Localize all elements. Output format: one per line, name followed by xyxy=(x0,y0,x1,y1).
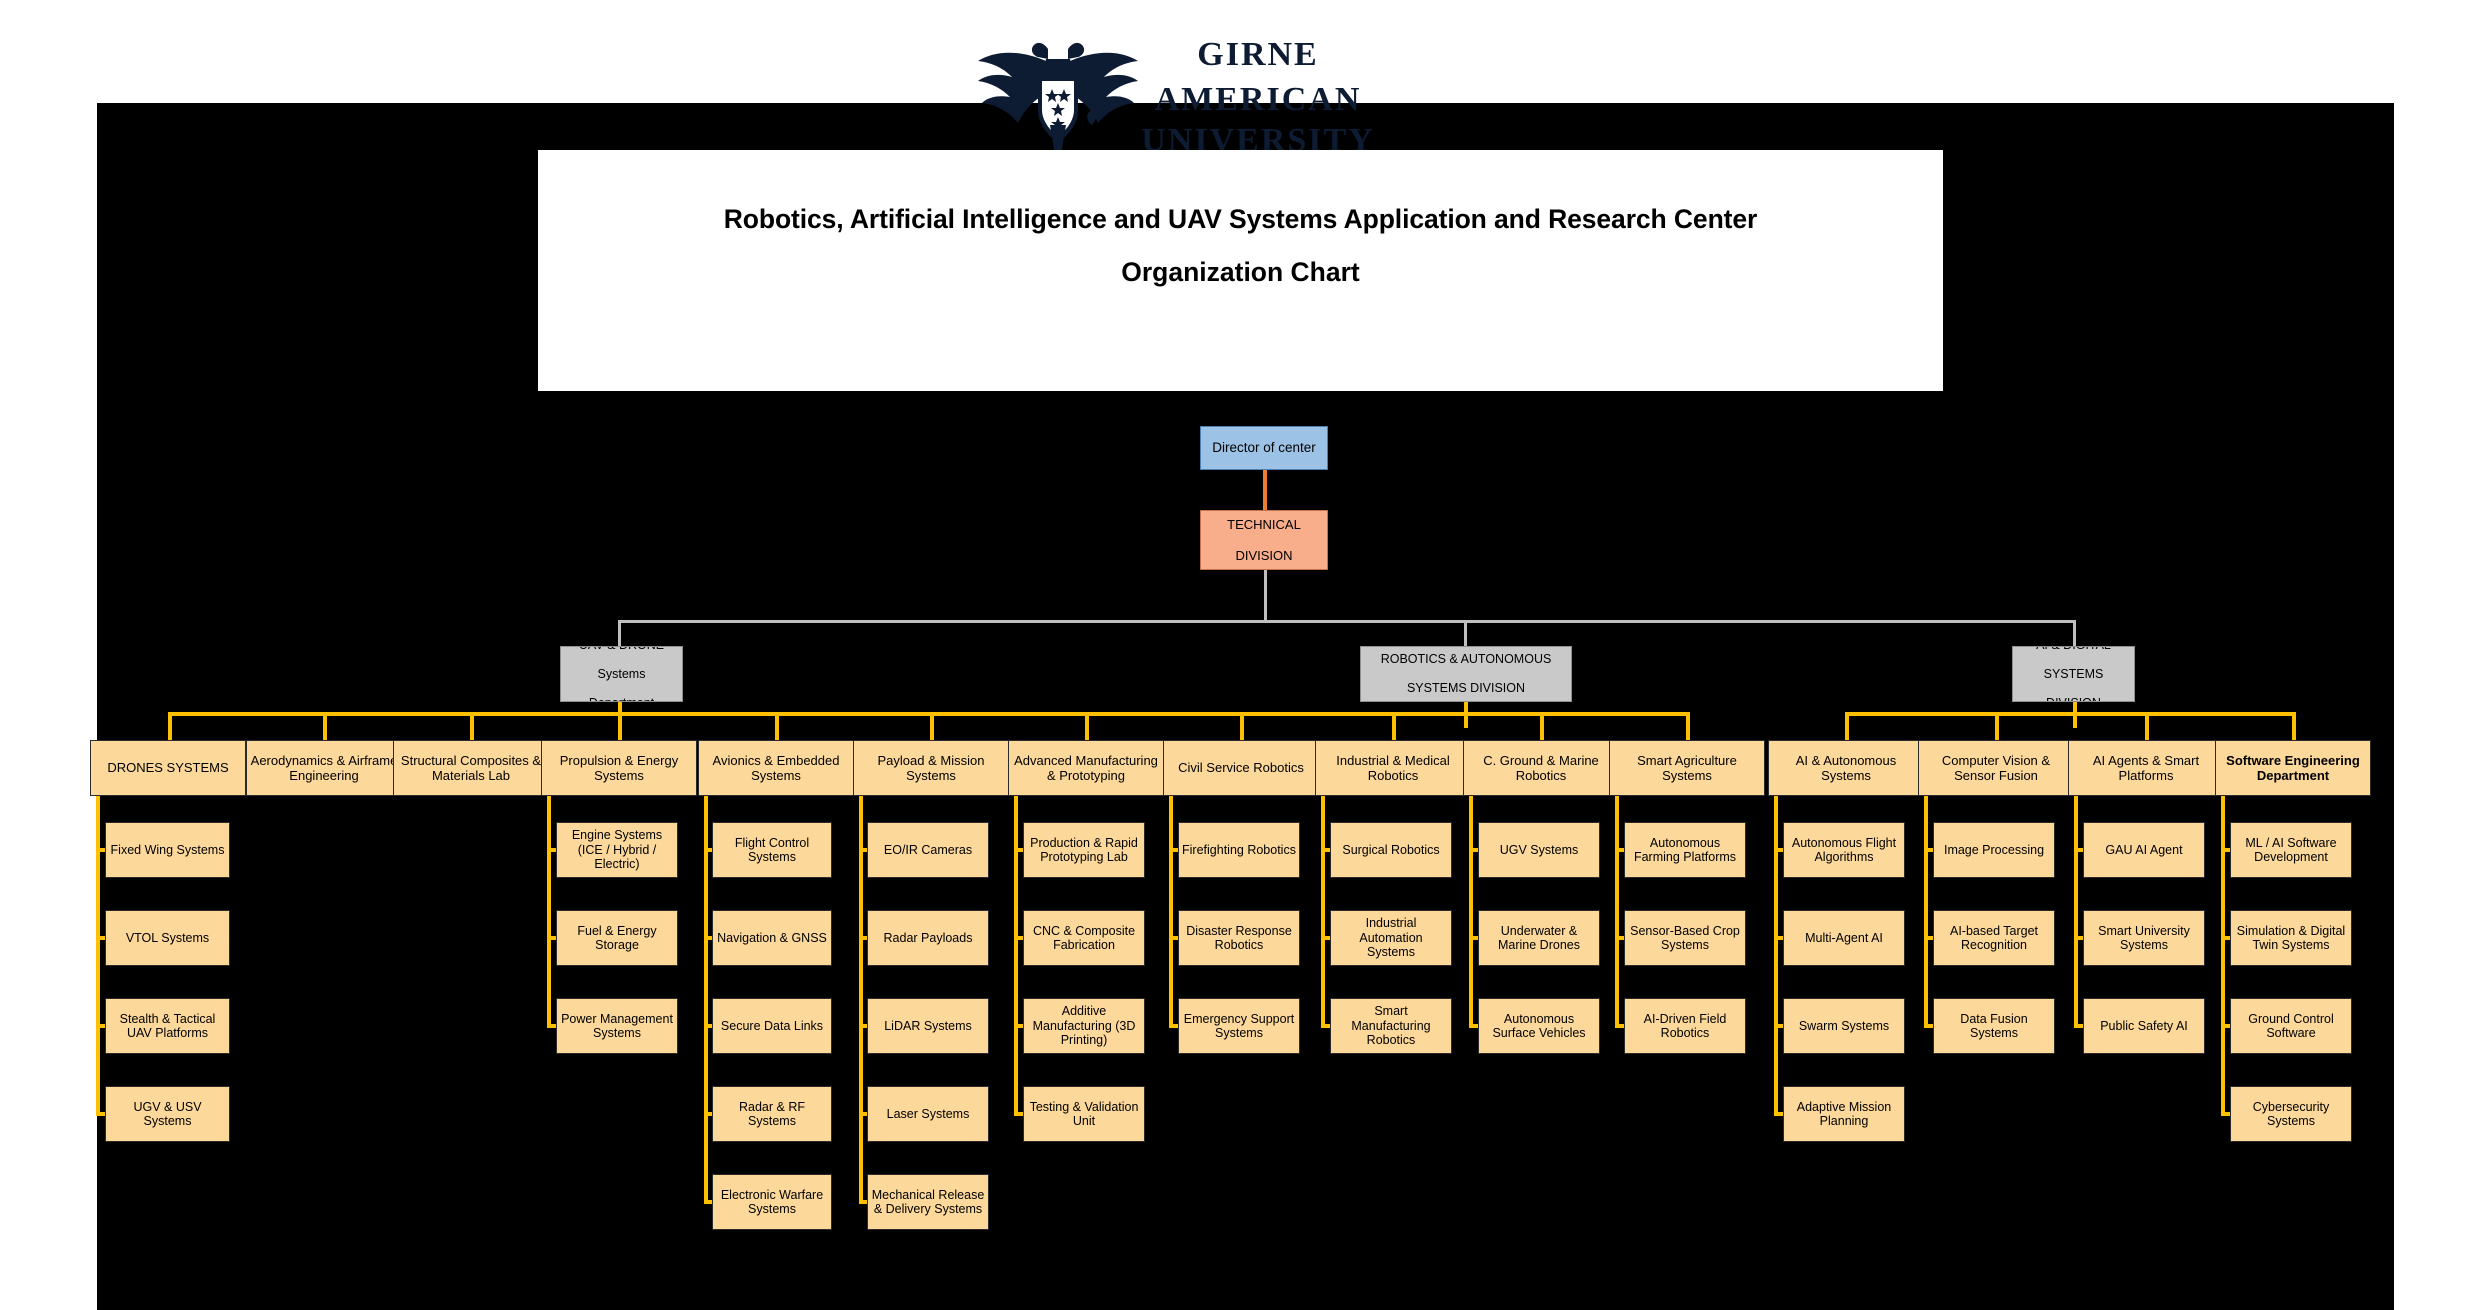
leaf-label: CNC & Composite Fabrication xyxy=(1024,924,1144,953)
leaf-advanced-mfg-4[interactable]: Testing & Validation Unit xyxy=(1023,1086,1145,1142)
leaf-avionics-2[interactable]: Navigation & GNSS xyxy=(712,910,832,966)
leaf-label: Smart Manufacturing Robotics xyxy=(1331,1004,1451,1048)
connector-ai-autonomous-stub-2 xyxy=(1774,936,1783,940)
leaf-computer-vision-2[interactable]: AI-based Target Recognition xyxy=(1933,910,2055,966)
connector-ground-marine-stub-3 xyxy=(1469,1024,1478,1028)
leaf-label: LiDAR Systems xyxy=(881,1019,975,1034)
connector-ai-agents-spine xyxy=(2074,796,2078,1026)
leaf-civil-service-2[interactable]: Disaster Response Robotics xyxy=(1178,910,1300,966)
leaf-label: VTOL Systems xyxy=(123,931,212,946)
leaf-label: EO/IR Cameras xyxy=(881,843,975,858)
connector-ai-autonomous-spine xyxy=(1774,796,1778,1114)
leaf-software-eng-2[interactable]: Simulation & Digital Twin Systems xyxy=(2230,910,2352,966)
leaf-payload-1[interactable]: EO/IR Cameras xyxy=(867,822,989,878)
connector-drop-ras xyxy=(1464,620,1467,646)
connector-industrial-medical-stub-3 xyxy=(1321,1024,1330,1028)
connector-ai-stem-1 xyxy=(1845,712,1849,740)
connector-payload-stub-4 xyxy=(859,1112,867,1116)
leaf-computer-vision-3[interactable]: Data Fusion Systems xyxy=(1933,998,2055,1054)
leaf-payload-5[interactable]: Mechanical Release & Delivery Systems xyxy=(867,1174,989,1230)
connector-computer-vision-stub-2 xyxy=(1924,936,1933,940)
leaf-ai-autonomous-4[interactable]: Adaptive Mission Planning xyxy=(1783,1086,1905,1142)
leaf-label: Data Fusion Systems xyxy=(1934,1012,2054,1041)
leaf-label: AI-Driven Field Robotics xyxy=(1625,1012,1745,1041)
leaf-software-eng-3[interactable]: Ground Control Software xyxy=(2230,998,2352,1054)
department-ai-autonomous-systems[interactable]: AI & Autonomous Systems xyxy=(1768,740,1924,796)
leaf-label: Testing & Validation Unit xyxy=(1024,1100,1144,1129)
leaf-propulsion-3[interactable]: Power Management Systems xyxy=(556,998,678,1054)
leaf-industrial-medical-1[interactable]: Surgical Robotics xyxy=(1330,822,1452,878)
leaf-label: Autonomous Flight Algorithms xyxy=(1784,836,1904,865)
title-card: Robotics, Artificial Intelligence and UA… xyxy=(538,150,1943,391)
connector-uav-stem-6 xyxy=(930,712,934,740)
connector-industrial-medical-stub-2 xyxy=(1321,936,1330,940)
connector-smart-agri-stub-3 xyxy=(1615,1024,1624,1028)
leaf-label: Adaptive Mission Planning xyxy=(1784,1100,1904,1129)
connector-division-trunk xyxy=(618,620,2076,623)
connector-technical-trunk xyxy=(1264,570,1267,622)
connector-ai-agents-stub-1 xyxy=(2074,848,2083,852)
leaf-label: Radar Payloads xyxy=(881,931,976,946)
connector-software-eng-stub-3 xyxy=(2221,1024,2230,1028)
leaf-avionics-3[interactable]: Secure Data Links xyxy=(712,998,832,1054)
connector-payload-spine xyxy=(859,796,863,1202)
connector-avionics-stub-1 xyxy=(704,848,712,852)
node-division-uav-drone[interactable]: UAV & DRONE Systems Department xyxy=(560,646,683,702)
connector-propulsion-stub-1 xyxy=(547,848,556,852)
department-drones-systems[interactable]: DRONES SYSTEMS xyxy=(90,740,246,796)
leaf-advanced-mfg-1[interactable]: Production & Rapid Prototyping Lab xyxy=(1023,822,1145,878)
leaf-label: Autonomous Farming Platforms xyxy=(1625,836,1745,865)
connector-smart-agri-stub-1 xyxy=(1615,848,1624,852)
connector-software-eng-stub-2 xyxy=(2221,936,2230,940)
leaf-smart-agri-1[interactable]: Autonomous Farming Platforms xyxy=(1624,822,1746,878)
leaf-civil-service-1[interactable]: Firefighting Robotics xyxy=(1178,822,1300,878)
leaf-label: Sensor-Based Crop Systems xyxy=(1625,924,1745,953)
leaf-ground-marine-3[interactable]: Autonomous Surface Vehicles xyxy=(1478,998,1600,1054)
connector-advanced-mfg-stub-1 xyxy=(1014,848,1023,852)
connector-ai-autonomous-stub-4 xyxy=(1774,1112,1783,1116)
connector-ras-stem-3 xyxy=(1540,712,1544,740)
connector-ground-marine-stub-1 xyxy=(1469,848,1478,852)
leaf-label: Power Management Systems xyxy=(557,1012,677,1041)
connector-civil-service-stub-2 xyxy=(1169,936,1178,940)
department-ai-agents-smart-platforms[interactable]: AI Agents & Smart Platforms xyxy=(2068,740,2224,796)
leaf-label: Disaster Response Robotics xyxy=(1179,924,1299,953)
connector-drones-systems-spine xyxy=(96,796,100,1114)
connector-ras-bar xyxy=(1240,712,1688,716)
leaf-label: AI-based Target Recognition xyxy=(1934,924,2054,953)
leaf-drones-systems-1[interactable]: Fixed Wing Systems xyxy=(105,822,230,878)
leaf-smart-agri-2[interactable]: Sensor-Based Crop Systems xyxy=(1624,910,1746,966)
page-subtitle: Organization Chart xyxy=(538,257,1943,288)
leaf-label: Secure Data Links xyxy=(718,1019,826,1034)
leaf-ground-marine-1[interactable]: UGV Systems xyxy=(1478,822,1600,878)
leaf-payload-3[interactable]: LiDAR Systems xyxy=(867,998,989,1054)
connector-director-technical xyxy=(1263,468,1267,512)
connector-industrial-medical-spine xyxy=(1321,796,1325,1026)
connector-uav-stem-8 xyxy=(1240,712,1244,740)
connector-ai-stem-4 xyxy=(2292,712,2296,740)
connector-ai-stem-3 xyxy=(2145,712,2149,740)
leaf-label: Additive Manufacturing (3D Printing) xyxy=(1024,1004,1144,1048)
department-propulsion-energy[interactable]: Propulsion & Energy Systems xyxy=(541,740,697,796)
connector-uav-bar xyxy=(168,712,1244,716)
leaf-label: Multi-Agent AI xyxy=(1802,931,1886,946)
leaf-label: Fuel & Energy Storage xyxy=(557,924,677,953)
girne-american-university-crest-icon: GIRNE AMERICAN UNIVERSITY xyxy=(958,25,1378,153)
connector-software-eng-stub-4 xyxy=(2221,1112,2230,1116)
leaf-label: Firefighting Robotics xyxy=(1179,843,1299,858)
connector-ras-stem-2 xyxy=(1392,712,1396,740)
page-title: Robotics, Artificial Intelligence and UA… xyxy=(538,204,1943,235)
leaf-label: Public Safety AI xyxy=(2097,1019,2191,1034)
leaf-payload-2[interactable]: Radar Payloads xyxy=(867,910,989,966)
connector-avionics-stub-2 xyxy=(704,936,712,940)
leaf-civil-service-3[interactable]: Emergency Support Systems xyxy=(1178,998,1300,1054)
connector-propulsion-stub-2 xyxy=(547,936,556,940)
connector-drones-systems-stub-3 xyxy=(96,1024,105,1028)
connector-civil-service-spine xyxy=(1169,796,1173,1026)
leaf-label: Radar & RF Systems xyxy=(713,1100,831,1129)
leaf-ai-agents-2[interactable]: Smart University Systems xyxy=(2083,910,2205,966)
leaf-label: UGV Systems xyxy=(1497,843,1582,858)
leaf-label: Industrial Automation Systems xyxy=(1331,916,1451,960)
connector-ai-autonomous-stub-1 xyxy=(1774,848,1783,852)
leaf-ai-agents-1[interactable]: GAU AI Agent xyxy=(2083,822,2205,878)
leaf-ai-autonomous-1[interactable]: Autonomous Flight Algorithms xyxy=(1783,822,1905,878)
connector-uav-stem-2 xyxy=(323,712,327,740)
leaf-software-eng-4[interactable]: Cybersecurity Systems xyxy=(2230,1086,2352,1142)
leaf-label: Navigation & GNSS xyxy=(714,931,830,946)
leaf-label: Production & Rapid Prototyping Lab xyxy=(1024,836,1144,865)
connector-drop-uav xyxy=(618,620,621,646)
connector-payload-stub-3 xyxy=(859,1024,867,1028)
leaf-drones-systems-3[interactable]: Stealth & Tactical UAV Platforms xyxy=(105,998,230,1054)
connector-smart-agri-stub-2 xyxy=(1615,936,1624,940)
leaf-label: Ground Control Software xyxy=(2231,1012,2351,1041)
department-advanced-manufacturing[interactable]: Advanced Manufacturing & Prototyping xyxy=(1008,740,1164,796)
department-industrial-medical-robotics[interactable]: Industrial & Medical Robotics xyxy=(1315,740,1471,796)
connector-avionics-spine xyxy=(704,796,708,1202)
leaf-label: Cybersecurity Systems xyxy=(2231,1100,2351,1129)
node-director-of-center[interactable]: Director of center xyxy=(1200,426,1328,470)
leaf-propulsion-2[interactable]: Fuel & Energy Storage xyxy=(556,910,678,966)
connector-ground-marine-spine xyxy=(1469,796,1473,1026)
connector-uav-stem-3 xyxy=(470,712,474,740)
connector-civil-service-stub-3 xyxy=(1169,1024,1178,1028)
leaf-label: UGV & USV Systems xyxy=(106,1100,229,1129)
leaf-label: Emergency Support Systems xyxy=(1179,1012,1299,1041)
leaf-avionics-1[interactable]: Flight Control Systems xyxy=(712,822,832,878)
connector-advanced-mfg-stub-3 xyxy=(1014,1024,1023,1028)
leaf-ai-autonomous-3[interactable]: Swarm Systems xyxy=(1783,998,1905,1054)
leaf-industrial-medical-2[interactable]: Industrial Automation Systems xyxy=(1330,910,1452,966)
leaf-computer-vision-1[interactable]: Image Processing xyxy=(1933,822,2055,878)
connector-ai-autonomous-stub-3 xyxy=(1774,1024,1783,1028)
leaf-software-eng-1[interactable]: ML / AI Software Development xyxy=(2230,822,2352,878)
node-division-ai-digital[interactable]: AI & DIGITAL SYSTEMS DIVISION xyxy=(2012,646,2135,702)
department-civil-service-robotics[interactable]: Civil Service Robotics xyxy=(1163,740,1319,796)
connector-computer-vision-stub-3 xyxy=(1924,1024,1933,1028)
connector-avionics-stub-3 xyxy=(704,1024,712,1028)
department-ground-marine-robotics[interactable]: C. Ground & Marine Robotics xyxy=(1463,740,1619,796)
leaf-ground-marine-2[interactable]: Underwater & Marine Drones xyxy=(1478,910,1600,966)
leaf-ai-agents-3[interactable]: Public Safety AI xyxy=(2083,998,2205,1054)
leaf-smart-agri-3[interactable]: AI-Driven Field Robotics xyxy=(1624,998,1746,1054)
leaf-avionics-4[interactable]: Radar & RF Systems xyxy=(712,1086,832,1142)
leaf-label: Stealth & Tactical UAV Platforms xyxy=(106,1012,229,1041)
svg-text:UNIVERSITY: UNIVERSITY xyxy=(1141,122,1375,153)
leaf-label: Surgical Robotics xyxy=(1339,843,1442,858)
leaf-label: Fixed Wing Systems xyxy=(108,843,228,858)
leaf-drones-systems-4[interactable]: UGV & USV Systems xyxy=(105,1086,230,1142)
department-structural-composites[interactable]: Structural Composites & Materials Lab xyxy=(393,740,549,796)
department-software-engineering[interactable]: Software Engineering Department xyxy=(2215,740,2371,796)
department-avionics-embedded[interactable]: Avionics & Embedded Systems xyxy=(698,740,854,796)
connector-payload-stub-1 xyxy=(859,848,867,852)
connector-propulsion-stub-3 xyxy=(547,1024,556,1028)
node-division-robotics-autonomous[interactable]: ROBOTICS & AUTONOMOUS SYSTEMS DIVISION xyxy=(1360,646,1572,702)
connector-propulsion-spine xyxy=(547,796,551,1026)
leaf-propulsion-1[interactable]: Engine Systems (ICE / Hybrid / Electric) xyxy=(556,822,678,878)
connector-avionics-stub-5 xyxy=(704,1200,712,1204)
department-computer-vision-sensor-fusion[interactable]: Computer Vision & Sensor Fusion xyxy=(1918,740,2074,796)
leaf-ai-autonomous-2[interactable]: Multi-Agent AI xyxy=(1783,910,1905,966)
connector-payload-stub-2 xyxy=(859,936,867,940)
connector-drones-systems-stub-2 xyxy=(96,936,105,940)
connector-advanced-mfg-stub-2 xyxy=(1014,936,1023,940)
connector-software-eng-stub-1 xyxy=(2221,848,2230,852)
leaf-label: ML / AI Software Development xyxy=(2231,836,2351,865)
leaf-drones-systems-2[interactable]: VTOL Systems xyxy=(105,910,230,966)
leaf-label: Swarm Systems xyxy=(1796,1019,1892,1034)
leaf-label: Electronic Warfare Systems xyxy=(713,1188,831,1217)
connector-uav-stem-5 xyxy=(775,712,779,740)
connector-industrial-medical-stub-1 xyxy=(1321,848,1330,852)
leaf-label: Laser Systems xyxy=(884,1107,973,1122)
connector-payload-stub-5 xyxy=(859,1200,867,1204)
connector-drones-systems-stub-1 xyxy=(96,848,105,852)
leaf-advanced-mfg-3[interactable]: Additive Manufacturing (3D Printing) xyxy=(1023,998,1145,1054)
connector-software-eng-spine xyxy=(2221,796,2225,1114)
department-payload-mission[interactable]: Payload & Mission Systems xyxy=(853,740,1009,796)
leaf-industrial-medical-3[interactable]: Smart Manufacturing Robotics xyxy=(1330,998,1452,1054)
connector-uav-stem-4 xyxy=(618,712,622,740)
connector-uav-stem-1 xyxy=(168,712,172,740)
connector-advanced-mfg-spine xyxy=(1014,796,1018,1114)
connector-ras-stem-4 xyxy=(1686,712,1690,740)
leaf-label: Mechanical Release & Delivery Systems xyxy=(868,1188,988,1217)
connector-avionics-stub-4 xyxy=(704,1112,712,1116)
leaf-avionics-5[interactable]: Electronic Warfare Systems xyxy=(712,1174,832,1230)
node-technical-division[interactable]: TECHNICAL DIVISION xyxy=(1200,510,1328,570)
leaf-label: Autonomous Surface Vehicles xyxy=(1479,1012,1599,1041)
connector-drones-systems-stub-4 xyxy=(96,1112,105,1116)
leaf-label: Smart University Systems xyxy=(2084,924,2204,953)
svg-text:GIRNE: GIRNE xyxy=(1197,36,1318,73)
leaf-advanced-mfg-2[interactable]: CNC & Composite Fabrication xyxy=(1023,910,1145,966)
connector-ai-agents-stub-3 xyxy=(2074,1024,2083,1028)
connector-smart-agri-spine xyxy=(1615,796,1619,1026)
connector-civil-service-stub-1 xyxy=(1169,848,1178,852)
connector-computer-vision-stub-1 xyxy=(1924,848,1933,852)
connector-ground-marine-stub-2 xyxy=(1469,936,1478,940)
connector-advanced-mfg-stub-4 xyxy=(1014,1112,1023,1116)
leaf-label: Underwater & Marine Drones xyxy=(1479,924,1599,953)
connector-ai-stem-2 xyxy=(1995,712,1999,740)
connector-ai-bar xyxy=(1845,712,2295,716)
leaf-label: GAU AI Agent xyxy=(2102,843,2185,858)
leaf-label: Simulation & Digital Twin Systems xyxy=(2231,924,2351,953)
svg-text:AMERICAN: AMERICAN xyxy=(1155,81,1362,118)
connector-ai-agents-stub-2 xyxy=(2074,936,2083,940)
leaf-label: Flight Control Systems xyxy=(713,836,831,865)
leaf-payload-4[interactable]: Laser Systems xyxy=(867,1086,989,1142)
connector-drop-ai xyxy=(2073,620,2076,646)
department-smart-agriculture[interactable]: Smart Agriculture Systems xyxy=(1609,740,1765,796)
leaf-label: Engine Systems (ICE / Hybrid / Electric) xyxy=(557,828,677,872)
department-aerodynamics-airframe[interactable]: Aerodynamics & Airframe Engineering xyxy=(246,740,402,796)
connector-computer-vision-spine xyxy=(1924,796,1928,1026)
leaf-label: Image Processing xyxy=(1941,843,2047,858)
connector-uav-stem-7 xyxy=(1085,712,1089,740)
